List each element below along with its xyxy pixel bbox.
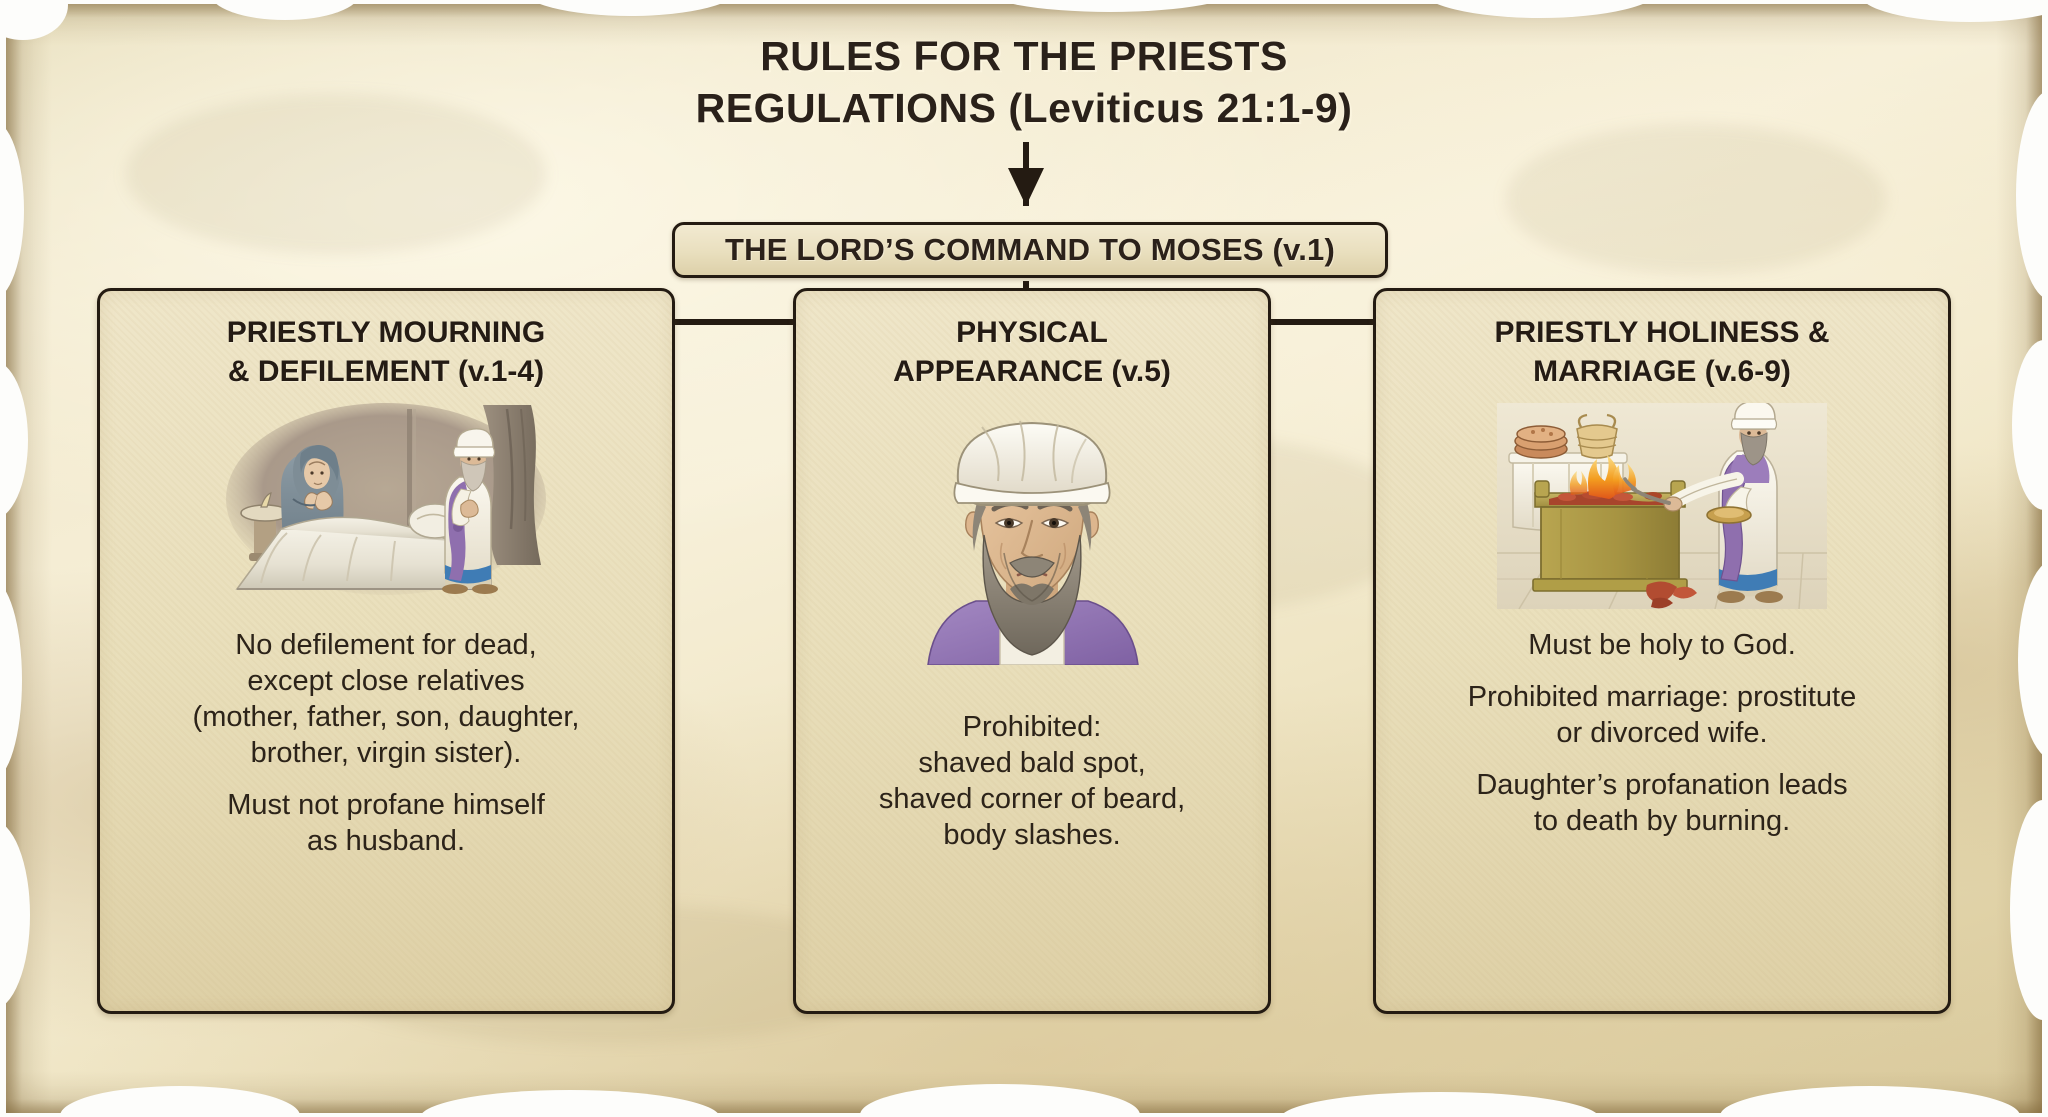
panel-3-heading-line-2: MARRIAGE (v.6-9) <box>1386 352 1938 391</box>
priest-turban <box>954 421 1109 505</box>
mourning-scene-illustration <box>221 403 551 609</box>
panel-1-paragraph-1: No defilement for dead, except close rel… <box>114 627 658 771</box>
panel-3-heading-main: MARRIAGE <box>1533 355 1696 388</box>
panel-1-body: No defilement for dead, except close rel… <box>100 627 672 859</box>
lords-command-text: THE LORD’S COMMAND TO MOSES <box>725 232 1264 267</box>
title-scripture-reference: (Leviticus 21:1-9) <box>1008 85 1352 131</box>
panel-3-paragraph-1: Must be holy to God. <box>1390 627 1934 663</box>
panel-1-heading-main: & DEFILEMENT <box>228 355 450 388</box>
panel-physical-appearance[interactable]: PHYSICAL APPEARANCE (v.5) <box>793 288 1271 1014</box>
title-regulations: REGULATIONS <box>696 85 997 131</box>
panel-1-heading-line-1: PRIESTLY MOURNING <box>110 313 662 352</box>
title-line-2: REGULATIONS (Leviticus 21:1-9) <box>0 82 2048 134</box>
lords-command-label: THE LORD’S COMMAND TO MOSES (v.1) <box>725 232 1335 268</box>
panel-2-heading-main: APPEARANCE <box>893 355 1103 388</box>
priest-portrait-illustration <box>898 403 1166 665</box>
lords-command-box[interactable]: THE LORD’S COMMAND TO MOSES (v.1) <box>672 222 1388 278</box>
panel-2-paragraph-1: Prohibited: shaved bald spot, shaved cor… <box>810 709 1254 853</box>
panel-2-heading-verse: (v.5) <box>1111 355 1170 388</box>
panel-2-body: Prohibited: shaved bald spot, shaved cor… <box>796 709 1268 853</box>
panel-3-heading-line-1: PRIESTLY HOLINESS & <box>1386 313 1938 352</box>
panel-1-paragraph-2: Must not profane himself as husband. <box>114 787 658 859</box>
panel-3-heading-verse: (v.6-9) <box>1705 355 1791 388</box>
panel-1-heading-line-2: & DEFILEMENT (v.1-4) <box>110 352 662 391</box>
panel-priestly-holiness-and-marriage[interactable]: PRIESTLY HOLINESS & MARRIAGE (v.6-9) <box>1373 288 1951 1014</box>
panel-2-heading-line-2: APPEARANCE (v.5) <box>806 352 1258 391</box>
panel-3-paragraph-3: Daughter’s profanation leads to death by… <box>1390 767 1934 839</box>
page-title: RULES FOR THE PRIESTS REGULATIONS (Levit… <box>0 30 2048 134</box>
panel-3-paragraph-2: Prohibited marriage: prostitute or divor… <box>1390 679 1934 751</box>
title-line-1: RULES FOR THE PRIESTS <box>0 30 2048 82</box>
altar-offering-illustration <box>1497 403 1827 609</box>
parchment-fiber <box>1506 124 1886 274</box>
panel-1-heading: PRIESTLY MOURNING & DEFILEMENT (v.1-4) <box>100 313 672 391</box>
lords-command-verse: (v.1) <box>1273 232 1335 267</box>
panel-3-heading: PRIESTLY HOLINESS & MARRIAGE (v.6-9) <box>1376 313 1948 391</box>
panel-2-heading: PHYSICAL APPEARANCE (v.5) <box>796 313 1268 391</box>
infographic-stage: RULES FOR THE PRIESTS REGULATIONS (Levit… <box>0 0 2048 1117</box>
panel-1-heading-verse: (v.1-4) <box>458 355 544 388</box>
panel-3-body: Must be holy to God. Prohibited marriage… <box>1376 627 1948 839</box>
panel-2-heading-line-1: PHYSICAL <box>806 313 1258 352</box>
panel-priestly-mourning-and-defilement[interactable]: PRIESTLY MOURNING & DEFILEMENT (v.1-4) <box>97 288 675 1014</box>
